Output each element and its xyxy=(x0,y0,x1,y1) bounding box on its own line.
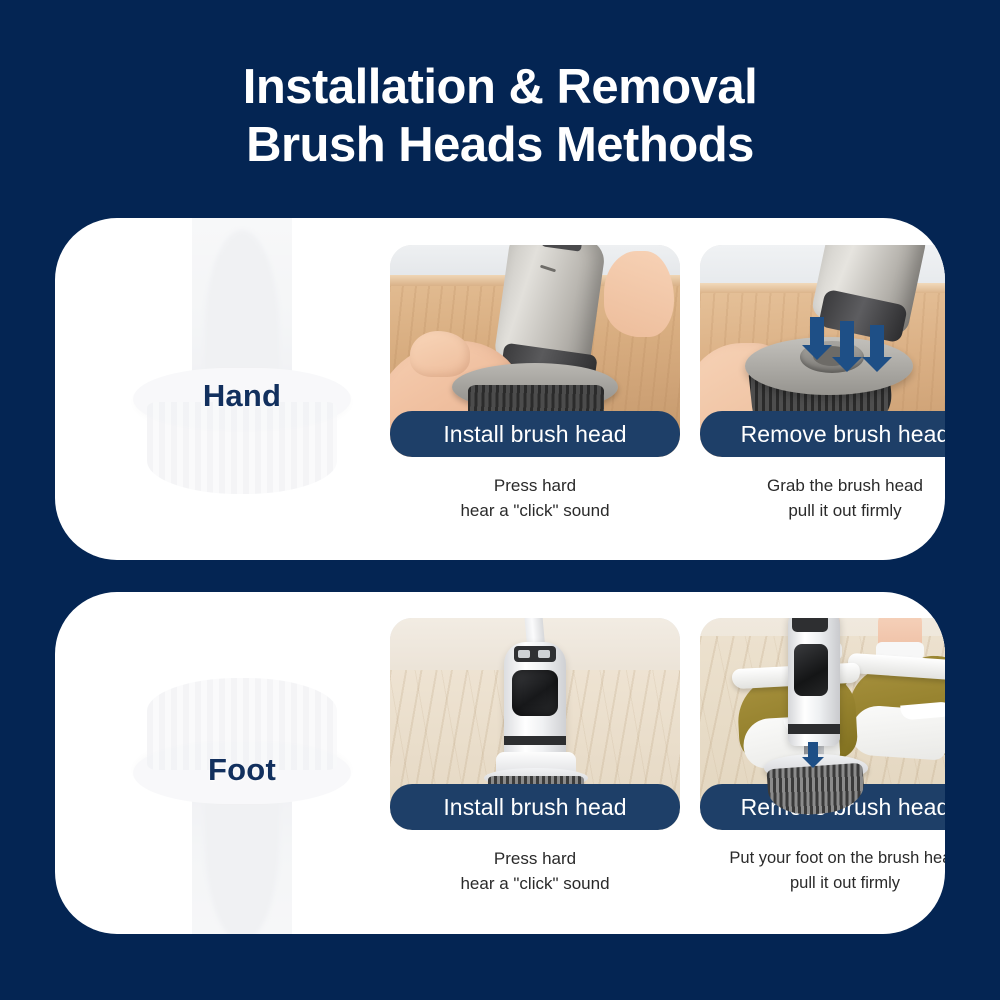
panel-foot-install: Install brush head Press hard hear a "cl… xyxy=(390,618,680,896)
method-card-foot: Foot Install brush head xyxy=(55,592,945,934)
subtext-line-2: pull it out firmly xyxy=(685,871,945,896)
section-label-foot: Foot xyxy=(97,752,387,788)
page-title-line-2: Brush Heads Methods xyxy=(0,116,1000,174)
panel-foot-remove: Remove brush head Put your foot on the b… xyxy=(700,618,945,896)
down-arrow-icon xyxy=(840,321,854,359)
subtext-foot-remove: Put your foot on the brush head pull it … xyxy=(685,846,945,896)
subtext-line-2: hear a "click" sound xyxy=(390,871,680,896)
subtext-line-2: pull it out firmly xyxy=(700,498,945,523)
subtext-line-1: Put your foot on the brush head xyxy=(685,846,945,871)
down-arrow-icon xyxy=(810,317,824,347)
page-title: Installation & Removal Brush Heads Metho… xyxy=(0,58,1000,174)
subtext-hand-install: Press hard hear a "click" sound xyxy=(390,473,680,523)
down-arrow-icon xyxy=(870,325,884,359)
subtext-line-1: Grab the brush head xyxy=(700,473,945,498)
down-arrow-icon xyxy=(808,742,818,758)
panel-hand-install: Install brush head Press hard hear a "cl… xyxy=(390,245,680,523)
infographic-page: Installation & Removal Brush Heads Metho… xyxy=(0,0,1000,1000)
photo-hand-install: Install brush head xyxy=(390,245,680,457)
subtext-hand-remove: Grab the brush head pull it out firmly xyxy=(700,473,945,523)
page-title-line-1: Installation & Removal xyxy=(0,58,1000,116)
subtext-line-1: Press hard xyxy=(390,473,680,498)
subtext-line-2: hear a "click" sound xyxy=(390,498,680,523)
photo-foot-remove: Remove brush head xyxy=(700,618,945,830)
caption-hand-install: Install brush head xyxy=(390,411,680,457)
subtext-line-1: Press hard xyxy=(390,846,680,871)
subtext-foot-install: Press hard hear a "click" sound xyxy=(390,846,680,896)
photo-hand-remove: Remove brush head xyxy=(700,245,945,457)
section-label-hand: Hand xyxy=(97,378,387,414)
photo-foot-install: Install brush head xyxy=(390,618,680,830)
caption-hand-remove: Remove brush head xyxy=(700,411,945,457)
method-card-hand: Hand Install brush head xyxy=(55,218,945,560)
caption-foot-install: Install brush head xyxy=(390,784,680,830)
panel-hand-remove: Remove brush head Grab the brush head pu… xyxy=(700,245,945,523)
